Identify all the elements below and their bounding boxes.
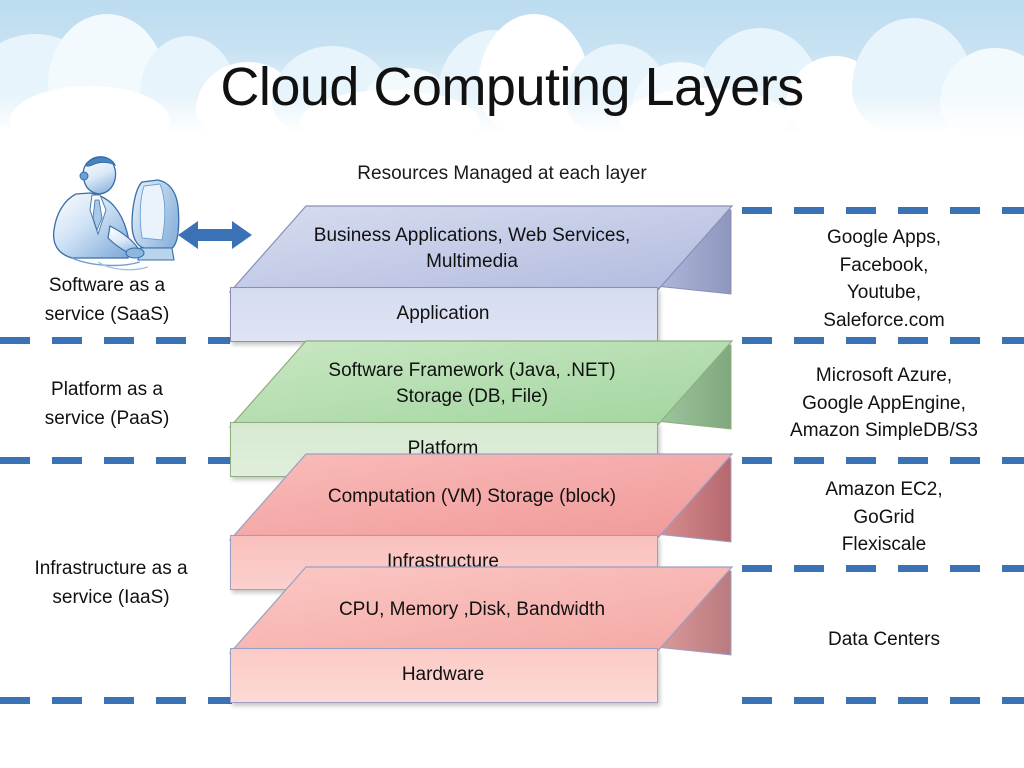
layer-platform-resources-line2: Storage (DB, File) xyxy=(286,384,658,410)
examples-paas: Microsoft Azure, Google AppEngine, Amazo… xyxy=(744,362,1024,445)
layer-hardware[interactable]: CPU, Memory ,Disk, Bandwidth Hardware xyxy=(228,565,728,705)
examples-paas-line-3: Amazon SimpleDB/S3 xyxy=(744,417,1024,445)
divider-paas-iaas-right xyxy=(742,457,1024,464)
paas-line-1: Platform as a xyxy=(14,376,200,405)
divider-saas-paas-left xyxy=(0,337,230,344)
slide-canvas: Cloud Computing Layers Resources Managed… xyxy=(0,0,1024,768)
examples-saas: Google Apps, Facebook, Youtube, Saleforc… xyxy=(750,224,1018,334)
divider-top-right xyxy=(742,207,1024,214)
examples-iaas: Amazon EC2, GoGrid Flexiscale xyxy=(750,476,1018,559)
layer-platform-resources: Software Framework (Java, .NET) Storage … xyxy=(286,358,658,409)
layer-application[interactable]: Business Applications, Web Services, Mul… xyxy=(228,204,728,344)
examples-datacenters-line-1: Data Centers xyxy=(750,626,1018,654)
person-at-computer-icon xyxy=(36,148,186,278)
examples-iaas-line-2: GoGrid xyxy=(750,504,1018,532)
examples-iaas-line-3: Flexiscale xyxy=(750,531,1018,559)
layer-hardware-name: Hardware xyxy=(228,664,658,686)
divider-iaas-dc-right xyxy=(742,565,1024,572)
service-model-label-saas: Software as a service (SaaS) xyxy=(14,272,200,329)
examples-saas-line-4: Saleforce.com xyxy=(750,307,1018,335)
examples-saas-line-2: Facebook, xyxy=(750,252,1018,280)
service-model-label-paas: Platform as a service (PaaS) xyxy=(14,376,200,433)
layer-application-resources-line1: Business Applications, Web Services, xyxy=(286,223,658,249)
layer-application-resources: Business Applications, Web Services, Mul… xyxy=(286,223,658,274)
layer-hardware-resources: CPU, Memory ,Disk, Bandwidth xyxy=(286,597,658,623)
examples-datacenters: Data Centers xyxy=(750,626,1018,654)
subtitle: Resources Managed at each layer xyxy=(222,163,782,185)
iaas-line-2: service (IaaS) xyxy=(6,584,216,613)
divider-bottom-right xyxy=(742,697,1024,704)
layer-platform-resources-line1: Software Framework (Java, .NET) xyxy=(286,358,658,384)
service-model-label-iaas: Infrastructure as a service (IaaS) xyxy=(6,555,216,612)
iaas-line-1: Infrastructure as a xyxy=(6,555,216,584)
divider-bottom-left xyxy=(0,697,232,704)
layer-application-name: Application xyxy=(228,303,658,325)
layer-hardware-resources-line1: CPU, Memory ,Disk, Bandwidth xyxy=(286,597,658,623)
layer-infrastructure-resources: Computation (VM) Storage (block) xyxy=(286,484,658,510)
divider-paas-iaas-left xyxy=(0,457,230,464)
examples-iaas-line-1: Amazon EC2, xyxy=(750,476,1018,504)
examples-paas-line-2: Google AppEngine, xyxy=(744,390,1024,418)
examples-saas-line-3: Youtube, xyxy=(750,279,1018,307)
page-title: Cloud Computing Layers xyxy=(0,58,1024,117)
paas-line-2: service (PaaS) xyxy=(14,405,200,434)
layer-infrastructure-resources-line1: Computation (VM) Storage (block) xyxy=(286,484,658,510)
divider-saas-paas-right xyxy=(742,337,1024,344)
examples-saas-line-1: Google Apps, xyxy=(750,224,1018,252)
saas-line-2: service (SaaS) xyxy=(14,301,200,330)
examples-paas-line-1: Microsoft Azure, xyxy=(744,362,1024,390)
layer-application-resources-line2: Multimedia xyxy=(286,249,658,275)
saas-line-1: Software as a xyxy=(14,272,200,301)
